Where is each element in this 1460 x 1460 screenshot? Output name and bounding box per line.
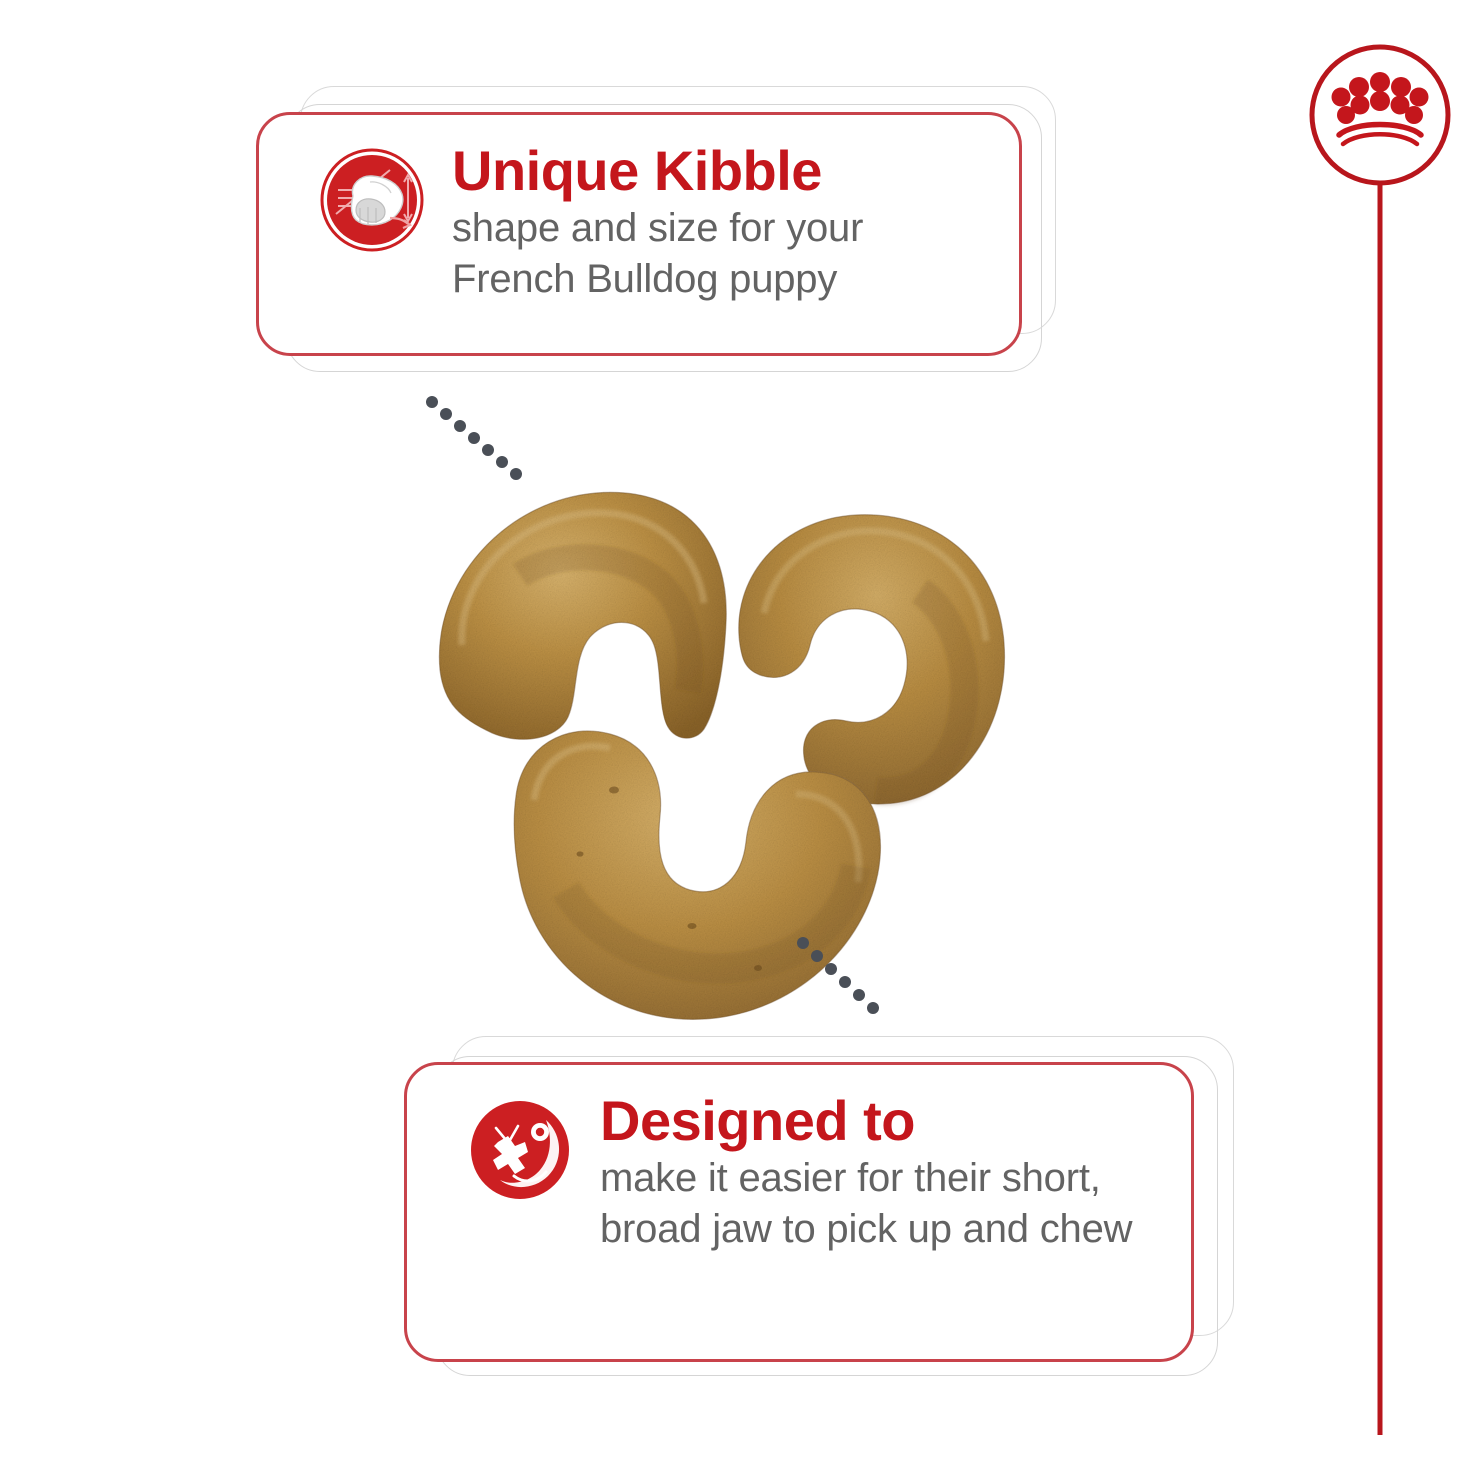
card-body-text: make it easier for their short, broad ja… bbox=[600, 1153, 1168, 1255]
kibble-photo bbox=[400, 455, 1060, 1035]
card-content-unique-kibble: Unique Kibble shape and size for your Fr… bbox=[320, 142, 990, 305]
card-body-text: shape and size for your French Bulldog p… bbox=[452, 203, 990, 305]
product-feature-panel: Unique Kibble shape and size for your Fr… bbox=[0, 0, 1460, 1460]
card-title: Designed to bbox=[600, 1092, 1168, 1151]
card-stack-designed-to: Designed to make it easier for their sho… bbox=[404, 1036, 1234, 1386]
card-stack-unique-kibble: Unique Kibble shape and size for your Fr… bbox=[256, 86, 1056, 386]
connector-bottom bbox=[796, 936, 896, 1021]
card-text-unique-kibble: Unique Kibble shape and size for your Fr… bbox=[452, 142, 990, 305]
kibble-measurement-icon bbox=[320, 148, 424, 252]
royal-canin-crown-logo bbox=[1305, 35, 1455, 1445]
card-title: Unique Kibble bbox=[452, 142, 990, 201]
card-text-designed-to: Designed to make it easier for their sho… bbox=[600, 1092, 1168, 1255]
flat-faced-dog-icon bbox=[468, 1098, 572, 1202]
card-content-designed-to: Designed to make it easier for their sho… bbox=[468, 1092, 1168, 1255]
